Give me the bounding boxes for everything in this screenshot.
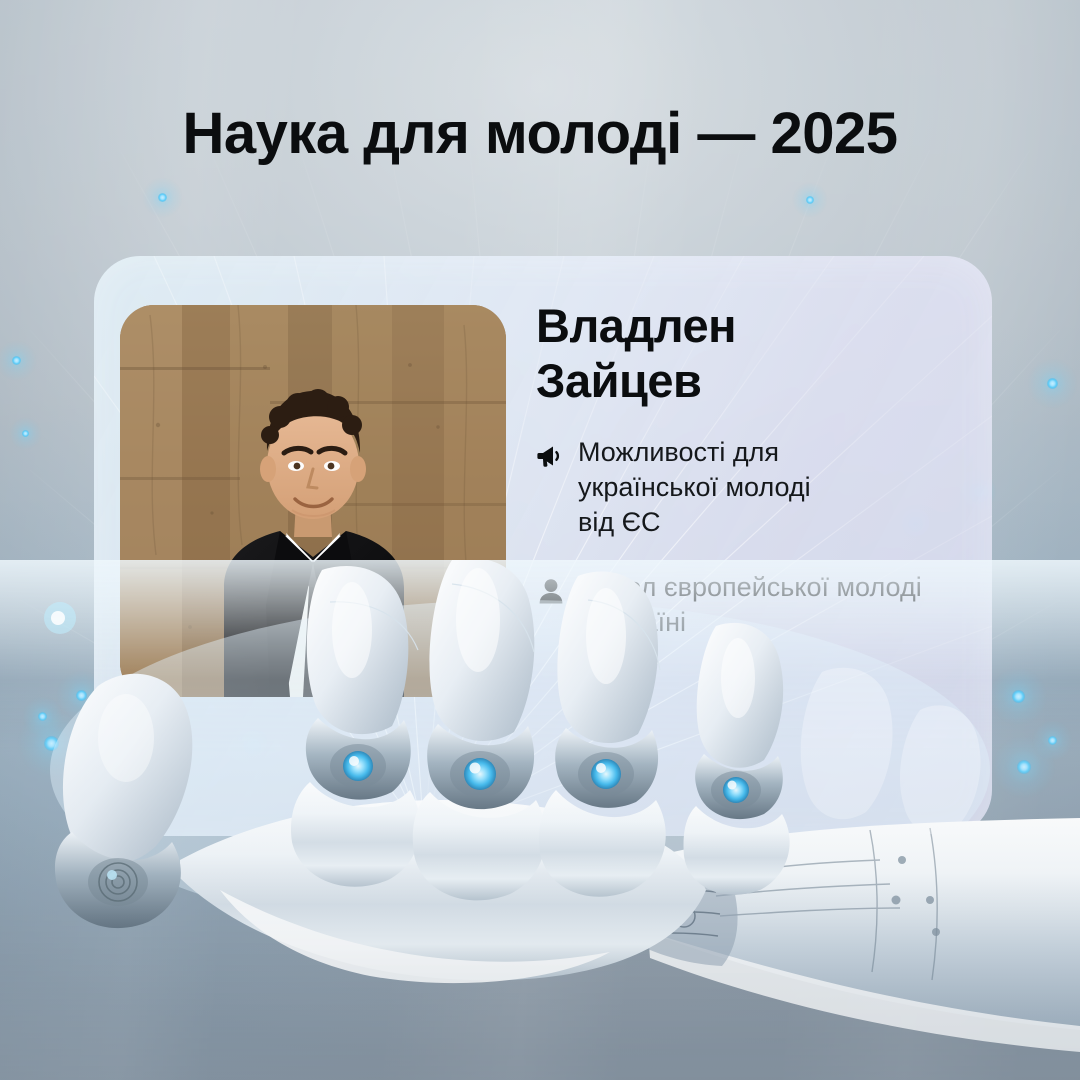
page-title: Наука для молоді — 2025 [0,100,1080,167]
speaker-topic-text: Можливості для української молоді від ЄС [578,435,811,540]
speaker-info: Владлен Зайцев Можливості для українсько… [536,298,966,640]
speaker-topic: Можливості для української молоді від ЄС [536,435,966,540]
glow-particle [1047,378,1058,389]
glow-particle [806,196,814,204]
speaker-name: Владлен Зайцев [536,298,966,409]
glow-particle [44,736,59,751]
speaker-role-text: Посол європейської молоді в Україні [578,570,922,640]
speaker-card: Владлен Зайцев Можливості для українсько… [94,256,992,836]
glow-particle [38,712,47,721]
glow-particle [1048,736,1057,745]
poster-canvas: Наука для молоді — 2025 [0,0,1080,1080]
speaker-role: Посол європейської молоді в Україні [536,570,966,640]
glow-particle [12,356,21,365]
person-icon [536,576,566,606]
speaker-photo [120,305,506,697]
glow-particle [158,193,167,202]
glow-particle [76,690,87,701]
glow-particle [22,430,29,437]
megaphone-icon [536,441,566,471]
glow-particle [1012,690,1025,703]
glow-particle [1017,760,1031,774]
